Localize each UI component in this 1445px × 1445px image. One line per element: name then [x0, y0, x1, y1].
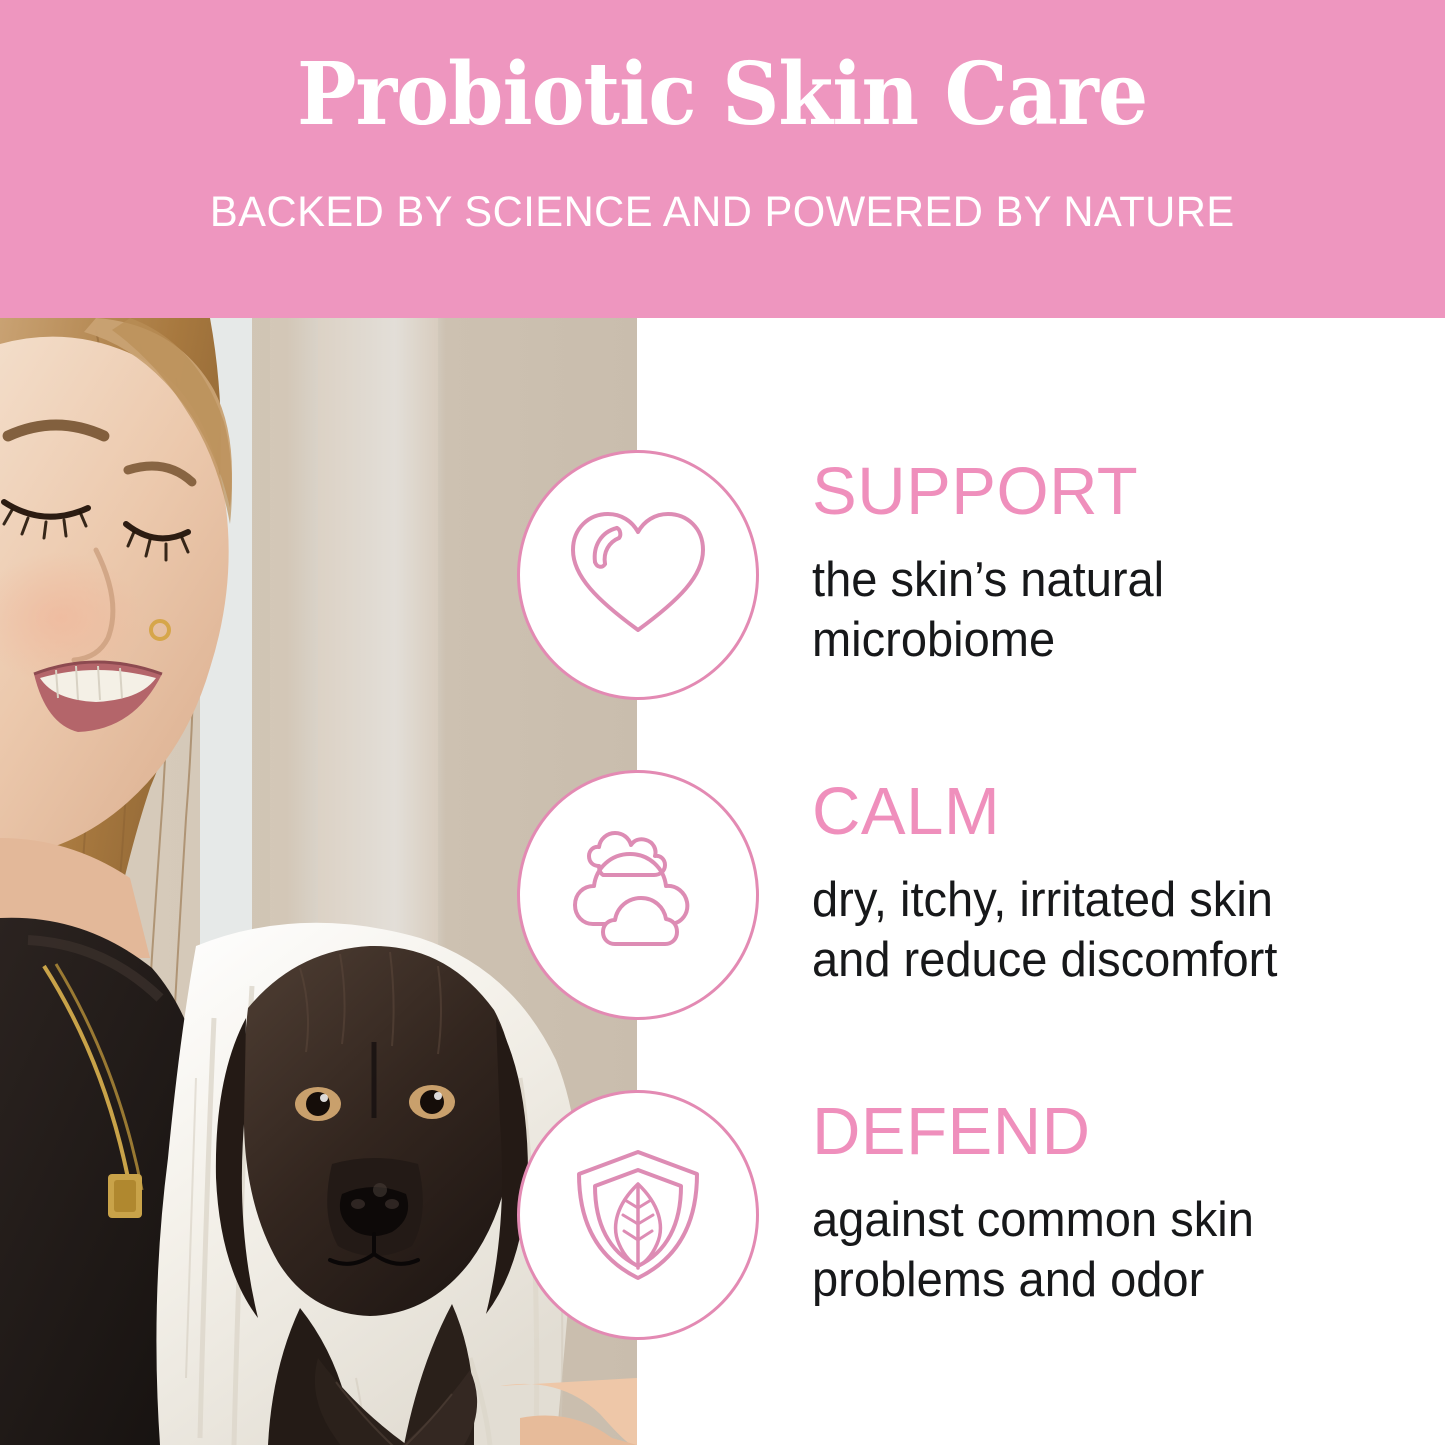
calm-icon-circle	[517, 770, 759, 1020]
calm-text-block: CALM dry, itchy, irritated skin and redu…	[812, 778, 1442, 991]
benefit-heading-calm: CALM	[812, 778, 1442, 845]
benefit-body-calm: dry, itchy, irritated skin and reduce di…	[812, 871, 1417, 991]
header-banner: Probiotic Skin Care BACKED BY SCIENCE AN…	[0, 0, 1445, 318]
page-subtitle: BACKED BY SCIENCE AND POWERED BY NATURE	[210, 191, 1235, 234]
benefit-body-defend: against common skin problems and odor	[812, 1191, 1417, 1311]
shield-leaf-icon	[563, 1140, 713, 1290]
support-text-block: SUPPORT the skin’s natural microbiome	[812, 458, 1442, 671]
benefit-row-support: SUPPORT the skin’s natural microbiome	[517, 450, 1445, 750]
benefit-body-support: the skin’s natural microbiome	[812, 551, 1417, 671]
clouds-icon	[563, 820, 713, 970]
benefit-heading-defend: DEFEND	[812, 1098, 1442, 1165]
defend-text-block: DEFEND against common skin problems and …	[812, 1098, 1442, 1311]
benefit-heading-support: SUPPORT	[812, 458, 1442, 525]
defend-icon-circle	[517, 1090, 759, 1340]
benefit-row-calm: CALM dry, itchy, irritated skin and redu…	[517, 770, 1445, 1070]
benefits-panel: SUPPORT the skin’s natural microbiome CA…	[637, 318, 1445, 1445]
benefit-row-defend: DEFEND against common skin problems and …	[517, 1090, 1445, 1390]
support-icon-circle	[517, 450, 759, 700]
heart-icon	[563, 500, 713, 650]
page-title: Probiotic Skin Care	[297, 52, 1147, 138]
